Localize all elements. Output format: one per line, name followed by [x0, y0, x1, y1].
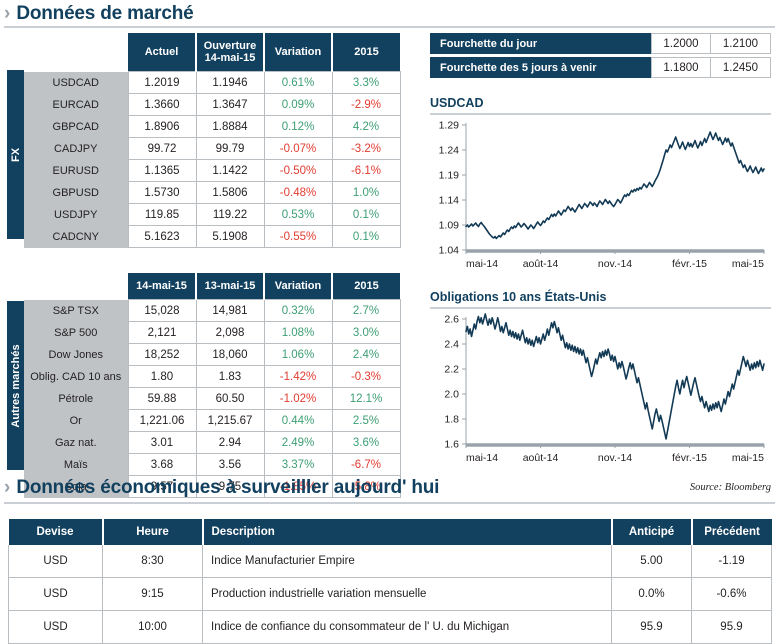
other-cell-2015: 3.6%	[332, 432, 400, 454]
other-row-label: S&P TSX	[24, 300, 128, 322]
table-row: CADJPY99.7299.79-0.07%-3.2%	[24, 138, 400, 160]
fx-table-header-row: Actuel Ouverture 14-mai-15 Variation 201…	[24, 33, 400, 72]
table-row: GBPCAD1.89061.88840.12%4.2%	[24, 116, 400, 138]
fx-cell-2015: 0.1%	[332, 226, 400, 248]
other-col-variation: Variation	[264, 273, 332, 300]
other-cell-variation: 0.44%	[264, 410, 332, 432]
econ-cell-description: Indice de confiance du consommateur de l…	[203, 611, 612, 644]
other-cell-date1: 59.88	[128, 388, 196, 410]
other-cell-date2: 14,981	[196, 300, 264, 322]
other-group-label: Autres marchés	[10, 344, 22, 427]
x-tick-label: mai-15	[732, 258, 764, 270]
econ-calendar-table: Devise Heure Description Anticipé Précéd…	[8, 519, 772, 644]
other-cell-date2: 2.94	[196, 432, 264, 454]
fx-cell-actuel: 1.2019	[128, 72, 196, 94]
other-cell-date1: 1.80	[128, 366, 196, 388]
table-row: Maïs3.683.563.37%-6.7%	[24, 454, 400, 476]
other-row-label: Pétrole	[24, 388, 128, 410]
other-row-label: Gaz nat.	[24, 432, 128, 454]
fx-cell-variation: 0.53%	[264, 204, 332, 226]
fourchette-row: Fourchette du jour1.20001.2100	[430, 33, 771, 54]
chart-bonds-rule	[430, 307, 771, 309]
other-cell-date2: 2,098	[196, 322, 264, 344]
table-row: GBPUSD1.57301.5806-0.48%1.0%	[24, 182, 400, 204]
econ-cell-description: Production industrielle variation mensue…	[203, 578, 612, 611]
x-tick-label: nov.-14	[598, 258, 632, 270]
table-row: USDCAD1.20191.19460.61%3.3%	[24, 72, 400, 94]
other-cell-date2: 3.56	[196, 454, 264, 476]
fx-cell-variation: 0.09%	[264, 94, 332, 116]
other-cell-variation: 0.32%	[264, 300, 332, 322]
fx-cell-ouverture: 1.1422	[196, 160, 264, 182]
fx-cell-ouverture: 99.79	[196, 138, 264, 160]
fx-cell-2015: -2.9%	[332, 94, 400, 116]
econ-cell-heure: 8:30	[103, 545, 203, 578]
other-cell-2015: 3.0%	[332, 322, 400, 344]
econ-cell-precedent: -1.19	[692, 545, 772, 578]
fx-row-label: USDJPY	[24, 204, 128, 226]
table-row: Or1,221.061,215.670.44%2.5%	[24, 410, 400, 432]
other-cell-date2: 18,060	[196, 344, 264, 366]
section-rule-econ	[4, 502, 775, 504]
table-row: S&P 5002,1212,0981.08%3.0%	[24, 322, 400, 344]
x-tick-label: nov.-14	[598, 452, 632, 464]
section-rule-market	[4, 26, 775, 28]
other-row-label: Or	[24, 410, 128, 432]
fx-col-actuel-line1: Actuel	[128, 46, 195, 58]
fx-cell-ouverture: 1.1946	[196, 72, 264, 94]
econ-col-anticipe: Anticipé	[612, 519, 692, 545]
fx-row-label: EURCAD	[24, 94, 128, 116]
fx-col-actuel: Actuel	[128, 33, 196, 72]
econ-cell-precedent: -0.6%	[692, 578, 772, 611]
fx-table: Actuel Ouverture 14-mai-15 Variation 201…	[24, 33, 401, 248]
fx-row-label: CADCNY	[24, 226, 128, 248]
fx-cell-actuel: 5.1623	[128, 226, 196, 248]
y-tick-label: 1.8	[444, 414, 459, 426]
fx-cell-ouverture: 1.3647	[196, 94, 264, 116]
y-tick-label: 2.4	[444, 339, 459, 351]
econ-col-devise: Devise	[9, 519, 103, 545]
chart-usdcad-rule	[430, 113, 771, 115]
econ-cell-devise: USD	[9, 578, 103, 611]
other-cell-date2: 1,215.67	[196, 410, 264, 432]
y-tick-label: 1.29	[439, 120, 460, 132]
table-row: USD8:30Indice Manufacturier Empire5.00-1…	[9, 545, 772, 578]
x-tick-label: août-14	[523, 452, 559, 464]
fx-row-label: EURUSD	[24, 160, 128, 182]
chart-usdcad-title: USDCAD	[430, 96, 771, 110]
fx-cell-2015: -6.1%	[332, 160, 400, 182]
y-tick-label: 1.24	[439, 145, 460, 157]
other-col-2015: 2015	[332, 273, 400, 300]
fx-cell-actuel: 1.3660	[128, 94, 196, 116]
fx-group-bar: FX	[7, 70, 24, 239]
other-cell-variation: 1.08%	[264, 322, 332, 344]
x-tick-label: août-14	[523, 258, 559, 270]
y-tick-label: 2.2	[444, 364, 459, 376]
fx-cell-actuel: 99.72	[128, 138, 196, 160]
fx-col-ouverture-line2: 14-mai-15	[197, 52, 263, 64]
fx-cell-variation: -0.50%	[264, 160, 332, 182]
fx-cell-2015: 3.3%	[332, 72, 400, 94]
fx-row-label: CADJPY	[24, 138, 128, 160]
econ-cell-anticipe: 0.0%	[612, 578, 692, 611]
x-tick-label: mai-15	[732, 452, 764, 464]
fx-row-label: GBPUSD	[24, 182, 128, 204]
fx-cell-variation: -0.48%	[264, 182, 332, 204]
fx-cell-ouverture: 119.22	[196, 204, 264, 226]
section-header-econ: › Données économiques à surveilller aujo…	[4, 477, 439, 499]
chart-series-line	[466, 132, 764, 239]
table-row: Oblig. CAD 10 ans1.801.83-1.42%-0.3%	[24, 366, 400, 388]
fx-cell-ouverture: 1.5806	[196, 182, 264, 204]
fx-col-variation: Variation	[264, 33, 332, 72]
econ-cell-anticipe: 5.00	[612, 545, 692, 578]
econ-table-body: USD8:30Indice Manufacturier Empire5.00-1…	[9, 545, 772, 644]
chart-usdcad-plot: 1.041.091.141.191.241.29mai-14août-14nov…	[430, 117, 771, 280]
chart-bonds-title: Obligations 10 ans États-Unis	[430, 290, 771, 304]
fx-group-label: FX	[10, 147, 22, 161]
other-markets-table: 14-mai-15 13-mai-15 Variation 2015 S&P T…	[24, 273, 401, 498]
fx-cell-2015: -3.2%	[332, 138, 400, 160]
fx-col-variation-line1: Variation	[265, 46, 331, 58]
other-cell-date1: 15,028	[128, 300, 196, 322]
fx-cell-variation: 0.12%	[264, 116, 332, 138]
other-cell-date1: 3.68	[128, 454, 196, 476]
table-row: Gaz nat.3.012.942.49%3.6%	[24, 432, 400, 454]
other-row-label: Oblig. CAD 10 ans	[24, 366, 128, 388]
fourchette-low: 1.1800	[651, 57, 711, 78]
other-cell-variation: 3.37%	[264, 454, 332, 476]
other-cell-variation: -1.02%	[264, 388, 332, 410]
econ-section-title: Données économiques à surveilller aujour…	[16, 477, 439, 499]
other-cell-date2: 1.83	[196, 366, 264, 388]
econ-cell-precedent: 95.9	[692, 611, 772, 644]
other-cell-2015: 2.4%	[332, 344, 400, 366]
other-cell-2015: 2.7%	[332, 300, 400, 322]
fx-row-label: GBPCAD	[24, 116, 128, 138]
other-cell-date2: 60.50	[196, 388, 264, 410]
fx-col-ouverture: Ouverture 14-mai-15	[196, 33, 264, 72]
fourchette-high: 1.2100	[711, 33, 771, 54]
other-cell-2015: -0.3%	[332, 366, 400, 388]
table-row: Dow Jones18,25218,0601.06%2.4%	[24, 344, 400, 366]
other-table-body: S&P TSX15,02814,9810.32%2.7%S&P 5002,121…	[24, 300, 400, 498]
econ-cell-heure: 9:15	[103, 578, 203, 611]
other-cell-2015: -6.7%	[332, 454, 400, 476]
econ-col-heure: Heure	[103, 519, 203, 545]
other-cell-variation: -1.42%	[264, 366, 332, 388]
other-group-bar: Autres marchés	[7, 301, 24, 470]
fx-cell-2015: 1.0%	[332, 182, 400, 204]
fourchette-low: 1.2000	[651, 33, 711, 54]
fourchette-row: Fourchette des 5 jours à venir1.18001.24…	[430, 57, 771, 78]
other-header-spacer	[24, 273, 128, 300]
source-note: Source: Bloomberg	[690, 482, 771, 493]
fx-cell-actuel: 119.85	[128, 204, 196, 226]
fx-cell-2015: 0.1%	[332, 204, 400, 226]
chevron-right-icon-econ: ›	[4, 478, 10, 497]
table-row: USDJPY119.85119.220.53%0.1%	[24, 204, 400, 226]
table-row: EURUSD1.13651.1422-0.50%-6.1%	[24, 160, 400, 182]
page-title: Données de marché	[16, 3, 193, 25]
y-tick-label: 1.6	[444, 439, 459, 451]
econ-cell-description: Indice Manufacturier Empire	[203, 545, 612, 578]
other-row-label: Dow Jones	[24, 344, 128, 366]
other-cell-variation: 2.49%	[264, 432, 332, 454]
x-tick-label: févr.-15	[672, 258, 707, 270]
y-tick-label: 1.09	[439, 220, 460, 232]
fx-cell-actuel: 1.5730	[128, 182, 196, 204]
fourchette-high: 1.2450	[711, 57, 771, 78]
fx-cell-variation: -0.55%	[264, 226, 332, 248]
fx-col-2015: 2015	[332, 33, 400, 72]
fx-cell-2015: 4.2%	[332, 116, 400, 138]
other-row-label: Maïs	[24, 454, 128, 476]
table-row: S&P TSX15,02814,9810.32%2.7%	[24, 300, 400, 322]
other-cell-date1: 1,221.06	[128, 410, 196, 432]
chart-series-line	[466, 314, 764, 439]
fourchette-table: Fourchette du jour1.20001.2100Fourchette…	[430, 33, 771, 81]
chart-bonds-plot: 1.61.82.02.22.42.6mai-14août-14nov.-14fé…	[430, 311, 771, 474]
econ-header-row: Devise Heure Description Anticipé Précéd…	[9, 519, 772, 545]
econ-col-description: Description	[203, 519, 612, 545]
y-tick-label: 1.14	[439, 195, 460, 207]
table-row: EURCAD1.36601.36470.09%-2.9%	[24, 94, 400, 116]
other-table-header-row: 14-mai-15 13-mai-15 Variation 2015	[24, 273, 400, 300]
x-tick-label: mai-14	[466, 452, 498, 464]
other-cell-2015: 2.5%	[332, 410, 400, 432]
fx-cell-variation: 0.61%	[264, 72, 332, 94]
econ-col-precedent: Précédent	[692, 519, 772, 545]
other-cell-date1: 18,252	[128, 344, 196, 366]
fx-row-label: USDCAD	[24, 72, 128, 94]
other-cell-date1: 3.01	[128, 432, 196, 454]
table-row: USD9:15Production industrielle variation…	[9, 578, 772, 611]
chevron-right-icon: ›	[4, 4, 10, 23]
table-row: USD10:00Indice de confiance du consommat…	[9, 611, 772, 644]
y-tick-label: 2.0	[444, 389, 459, 401]
chart-bonds: Obligations 10 ans États-Unis 1.61.82.02…	[430, 290, 771, 474]
fx-col-2015-line1: 2015	[333, 46, 400, 58]
fx-cell-ouverture: 1.8884	[196, 116, 264, 138]
other-row-label: S&P 500	[24, 322, 128, 344]
other-cell-variation: 1.06%	[264, 344, 332, 366]
fx-header-spacer	[24, 33, 128, 72]
table-row: CADCNY5.16235.1908-0.55%0.1%	[24, 226, 400, 248]
table-row: Pétrole59.8860.50-1.02%12.1%	[24, 388, 400, 410]
econ-cell-devise: USD	[9, 545, 103, 578]
fx-cell-variation: -0.07%	[264, 138, 332, 160]
fx-cell-actuel: 1.1365	[128, 160, 196, 182]
other-col-date2: 13-mai-15	[196, 273, 264, 300]
other-col-date1: 14-mai-15	[128, 273, 196, 300]
fx-table-body: USDCAD1.20191.19460.61%3.3%EURCAD1.36601…	[24, 72, 400, 248]
econ-cell-anticipe: 95.9	[612, 611, 692, 644]
fourchette-label: Fourchette des 5 jours à venir	[430, 57, 651, 78]
y-tick-label: 2.6	[444, 314, 459, 326]
y-tick-label: 1.04	[439, 245, 460, 257]
section-header-market: › Données de marché	[4, 3, 194, 25]
econ-cell-devise: USD	[9, 611, 103, 644]
econ-cell-heure: 10:00	[103, 611, 203, 644]
fx-col-ouverture-line1: Ouverture	[197, 40, 263, 52]
fx-cell-actuel: 1.8906	[128, 116, 196, 138]
chart-usdcad: USDCAD 1.041.091.141.191.241.29mai-14aoû…	[430, 96, 771, 280]
other-cell-date1: 2,121	[128, 322, 196, 344]
fx-cell-ouverture: 5.1908	[196, 226, 264, 248]
other-cell-2015: 12.1%	[332, 388, 400, 410]
fourchette-label: Fourchette du jour	[430, 33, 651, 54]
y-tick-label: 1.19	[439, 170, 460, 182]
x-tick-label: mai-14	[466, 258, 498, 270]
x-tick-label: févr.-15	[672, 452, 707, 464]
